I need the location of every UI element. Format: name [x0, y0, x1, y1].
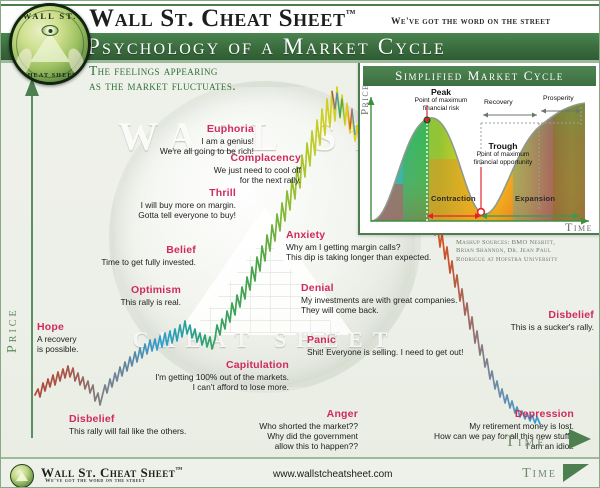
footer-tagline: We've got the word on the street: [45, 478, 145, 484]
seal-all-seeing-eye-icon: [42, 25, 59, 36]
header: WALL ST. CHEAT SHEET Wall St. Cheat Shee…: [1, 1, 600, 63]
header-tagline: We've got the word on the street: [391, 17, 550, 27]
brand-title-text: Wall St. Cheat Sheet: [89, 5, 346, 32]
footer-time-label: Time: [522, 466, 557, 482]
brand-title: Wall St. Cheat Sheet™: [89, 5, 356, 33]
page-title: Psychology of a Market Cycle: [87, 34, 599, 60]
trademark-symbol: ™: [346, 9, 357, 20]
infographic-poster: WALL ST. CHEAT SHEET Wall St. Cheat Shee…: [0, 0, 600, 488]
wall-st-seal-logo: WALL ST. CHEAT SHEET: [9, 3, 91, 85]
footer-trademark-symbol: ™: [175, 466, 183, 474]
seal-top-text: WALL ST.: [12, 11, 88, 21]
footer-pyramid-icon: [16, 472, 28, 481]
footer-website-url[interactable]: www.wallstcheatsheet.com: [273, 469, 393, 480]
market-price-line-overlay: [1, 63, 600, 457]
seal-bottom-text: CHEAT SHEET: [12, 73, 88, 79]
footer-time-arrow-icon: [563, 464, 589, 482]
seal-pyramid-icon: [30, 32, 70, 62]
footer-seal-logo: [10, 464, 34, 488]
main-chart-canvas: WALL ST. CHEAT SHEET The feelings appear…: [1, 63, 600, 457]
footer: Wall St. Cheat Sheet™ We've got the word…: [1, 457, 600, 488]
